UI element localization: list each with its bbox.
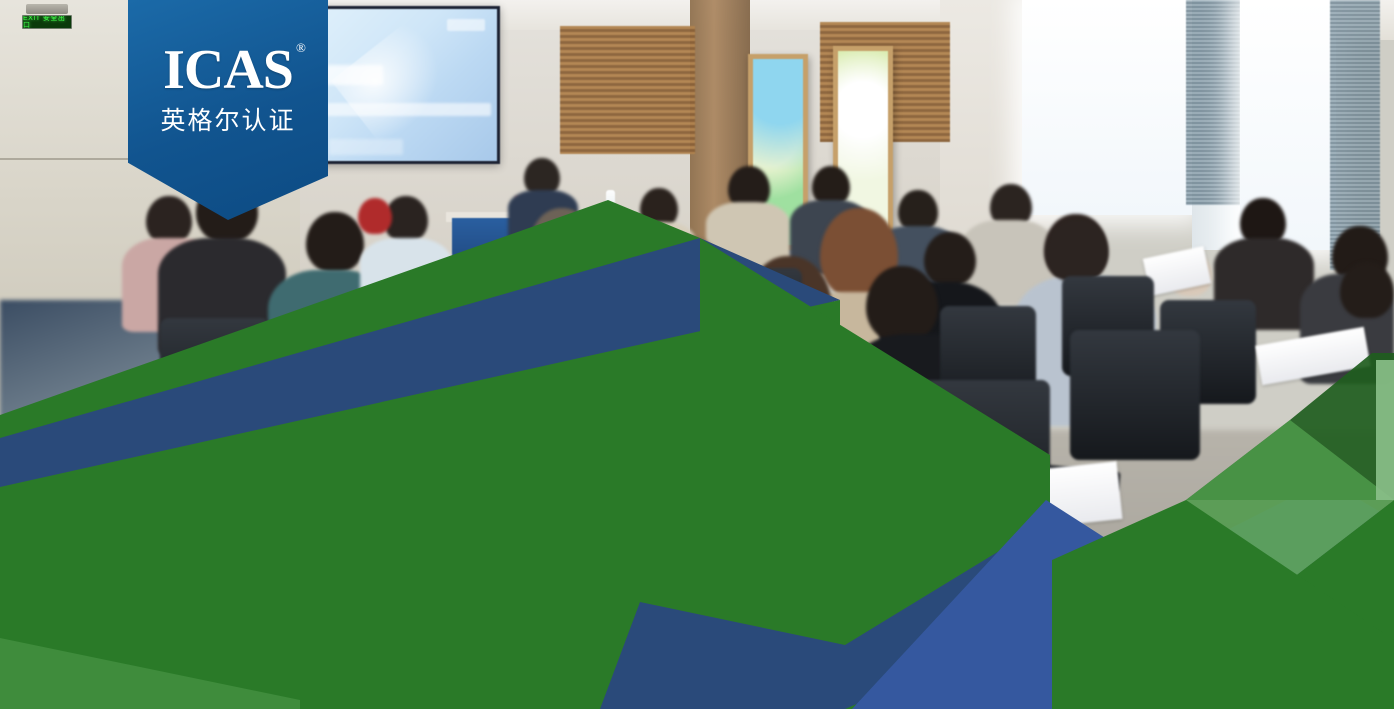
registered-trademark-icon: ® xyxy=(296,40,306,56)
logo-subtitle: 英格尔认证 xyxy=(160,101,295,137)
logo-wordmark-wrap: ICAS ® xyxy=(163,42,293,98)
logo-wordmark: ICAS xyxy=(163,42,293,98)
banner-stage: EXIT 安全出口 xyxy=(0,0,1394,709)
